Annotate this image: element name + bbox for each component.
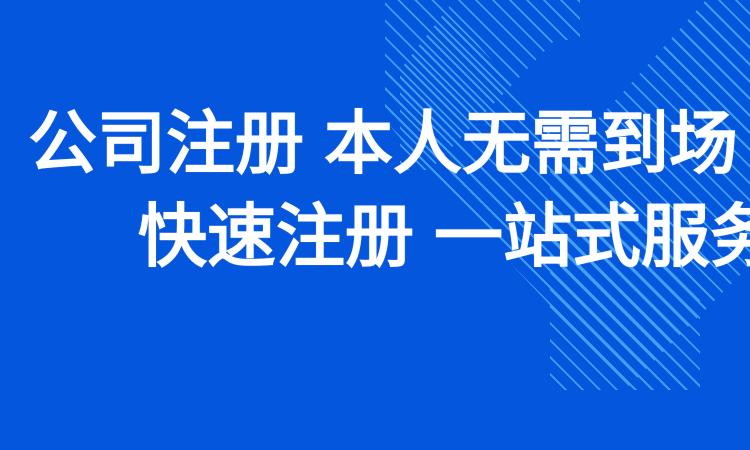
promo-banner: 公司注册本人无需到场 快速注册一站式服务	[0, 0, 750, 450]
headline-line-1: 公司注册本人无需到场	[28, 110, 738, 179]
headline-line-2: 快速注册一站式服务	[138, 203, 750, 272]
headline-line-1-segment-2: 本人无需到场	[324, 104, 738, 184]
headline-line-2-segment-2: 一站式服务	[434, 197, 750, 277]
headline-block: 公司注册本人无需到场 快速注册一站式服务	[0, 0, 750, 450]
headline-line-2-segment-1: 快速注册	[138, 197, 414, 277]
headline-line-1-segment-1: 公司注册	[28, 104, 304, 184]
